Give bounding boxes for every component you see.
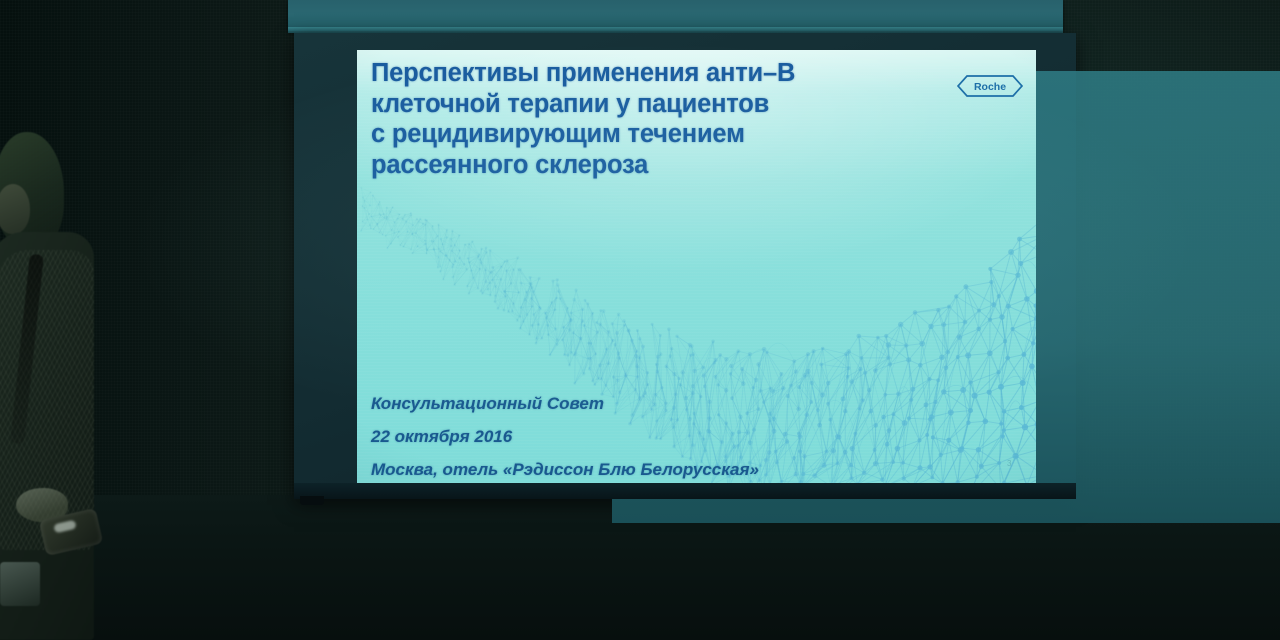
- slide-meta-block: Консультационный Совет 22 октября 2016 М…: [371, 387, 759, 483]
- title-line-2: клеточной терапии у пациентов: [371, 89, 901, 120]
- slide-page-number: 3: [1007, 459, 1011, 468]
- presenter-badge: [0, 562, 40, 606]
- roche-logo: Roche: [957, 75, 1023, 97]
- slide-title: Перспективы применения анти–В клеточной …: [371, 58, 901, 180]
- title-line-4: рассеянного склероза: [371, 150, 901, 181]
- meta-line-venue: Москва, отель «Рэдиссон Блю Белорусская»: [371, 453, 759, 483]
- screen-rail-foot: [300, 496, 324, 505]
- roche-logo-text: Roche: [974, 81, 1006, 93]
- meta-line-date: 22 октября 2016: [371, 420, 759, 453]
- projected-slide: Перспективы применения анти–В клеточной …: [357, 50, 1036, 483]
- presenter-silhouette: [0, 132, 112, 640]
- room-scene: Перспективы применения анти–В клеточной …: [0, 0, 1280, 640]
- title-line-3: с рецидивирующим течением: [371, 119, 901, 150]
- title-line-1: Перспективы применения анти–В: [371, 58, 901, 89]
- screen-bottom-rail: [294, 483, 1076, 499]
- presenter-face: [0, 184, 30, 234]
- meta-line-event: Консультационный Совет: [371, 387, 759, 420]
